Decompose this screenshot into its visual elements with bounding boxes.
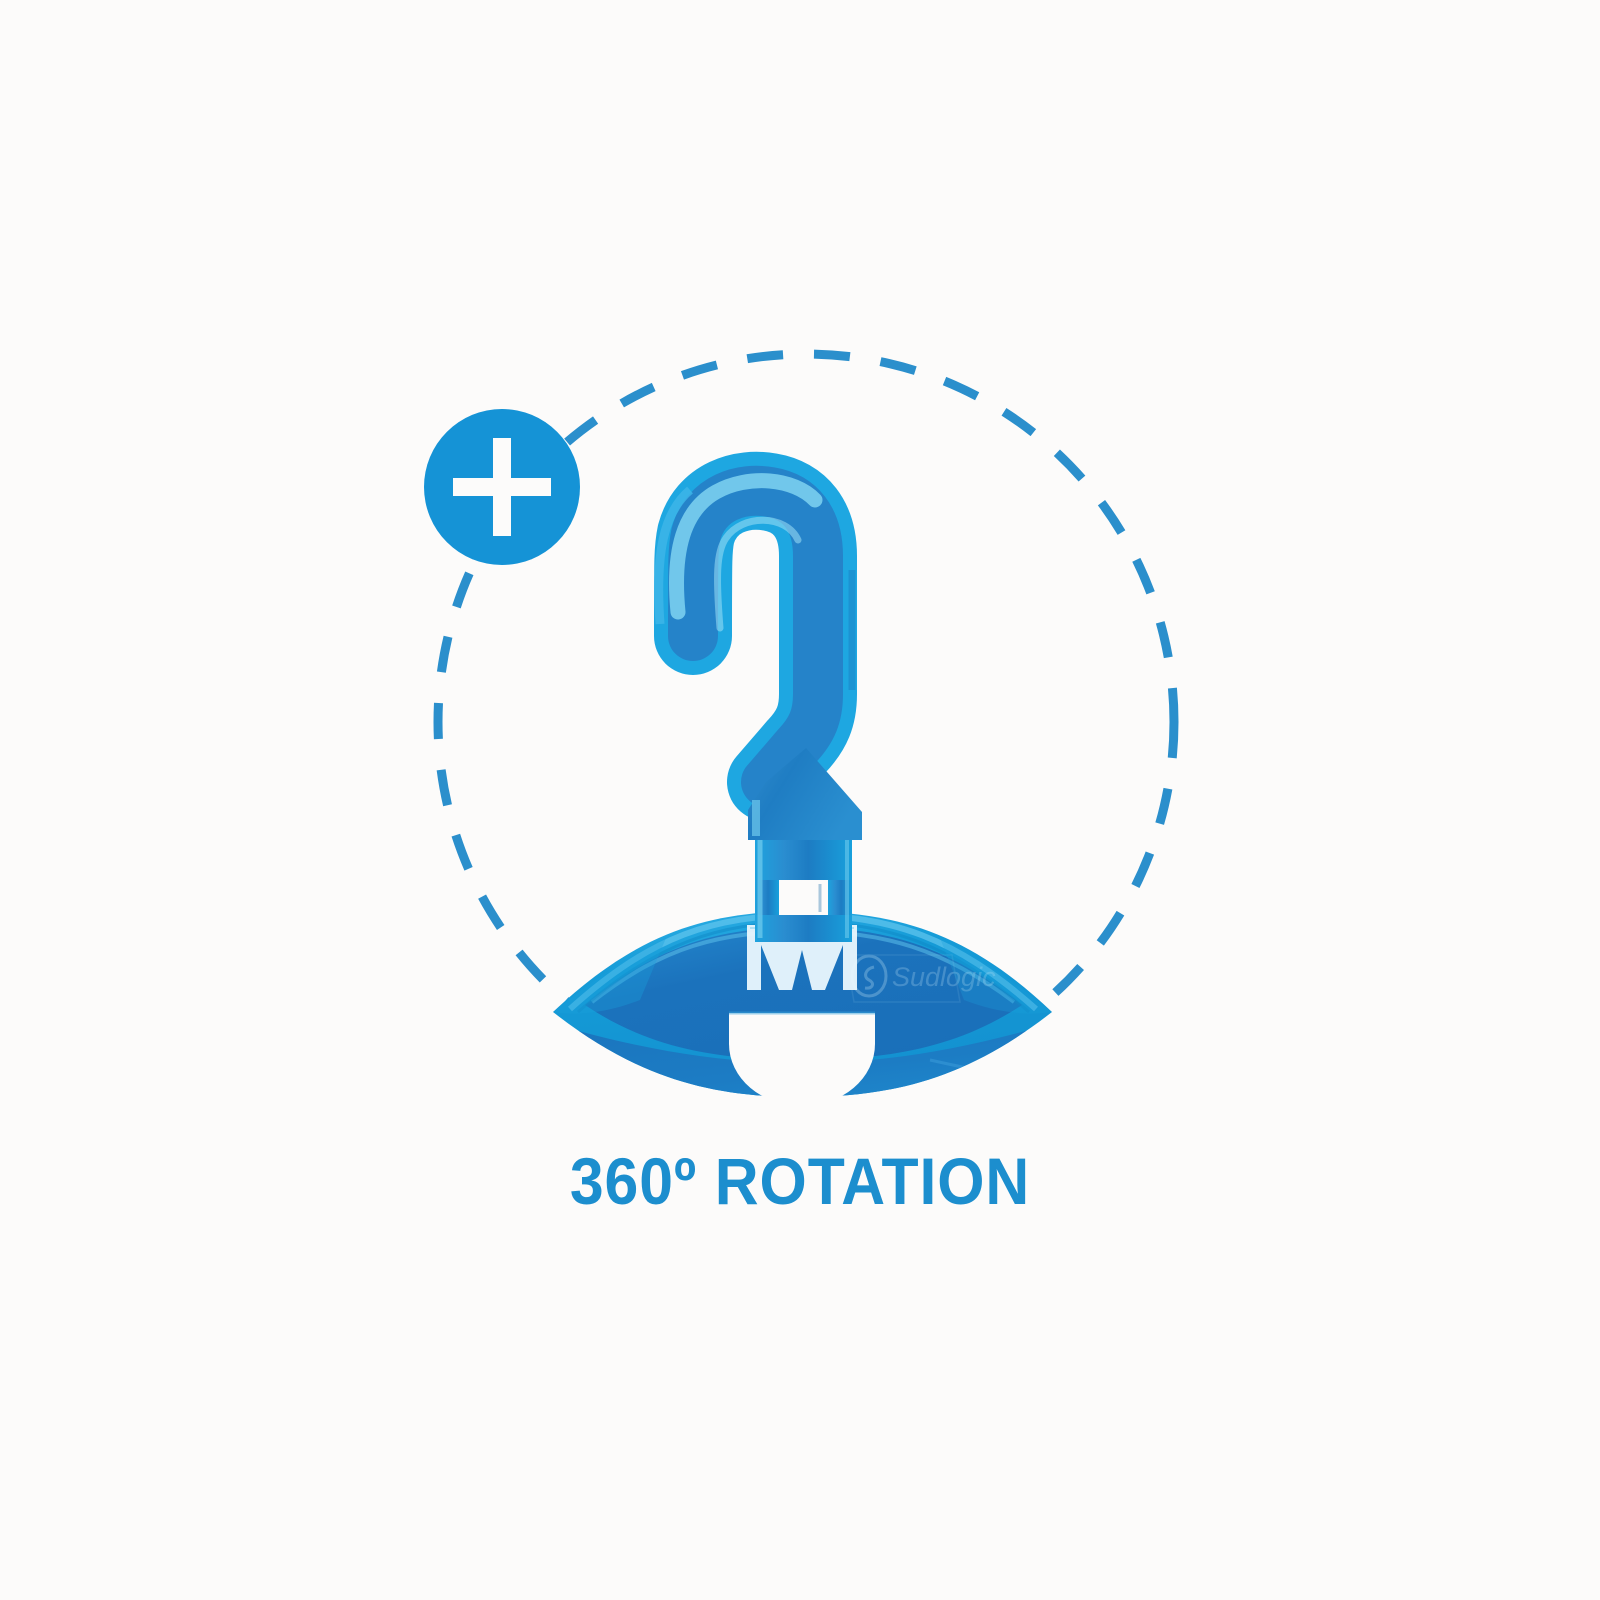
hanger-inner-highlight xyxy=(592,931,1014,1002)
hanger-plate-rib-1 xyxy=(600,1070,1008,1104)
hanger-lower-plate xyxy=(540,1020,1064,1120)
hook-left-edge xyxy=(659,490,690,624)
swivel-collar-slot xyxy=(747,925,857,990)
swivel-hook-hanger: Sudlogic xyxy=(0,0,1600,1600)
illustration-canvas: Sudlogic xyxy=(0,0,1600,1600)
hanger-edge-notches xyxy=(566,1062,1042,1097)
hanger-left-tip-highlight xyxy=(553,938,666,1014)
sudlogic-embossed-logo: Sudlogic xyxy=(846,955,996,1002)
hanger-rim-highlight xyxy=(570,915,1036,1009)
plus-icon-vertical-bar xyxy=(493,438,511,536)
hook-inner-rim xyxy=(718,520,798,628)
hook-stem-window xyxy=(779,880,828,915)
dashed-rotation-circle xyxy=(0,0,1600,1600)
hook-shank xyxy=(748,748,862,840)
hanger-body-rim xyxy=(553,911,1052,1097)
caption-360-rotation: 360º ROTATION xyxy=(64,1143,1536,1219)
hook-inner-core xyxy=(693,491,818,782)
hook-outer-shell xyxy=(693,491,818,782)
plus-badge[interactable] xyxy=(424,409,580,565)
hanger-plate-rib-2 xyxy=(930,1060,1030,1078)
svg-text:Sudlogic: Sudlogic xyxy=(892,962,996,992)
hanger-rim-shadow xyxy=(578,922,1029,1012)
swivel-hook xyxy=(659,468,943,842)
hanger-right-tip-highlight xyxy=(940,938,1052,1014)
hanger-grip-cutout xyxy=(729,1013,875,1106)
hook-highlight-top xyxy=(677,481,815,612)
hook-stem xyxy=(755,828,852,942)
hanger-body-recess xyxy=(585,927,1022,1060)
hanger-body: Sudlogic xyxy=(540,911,1064,1120)
